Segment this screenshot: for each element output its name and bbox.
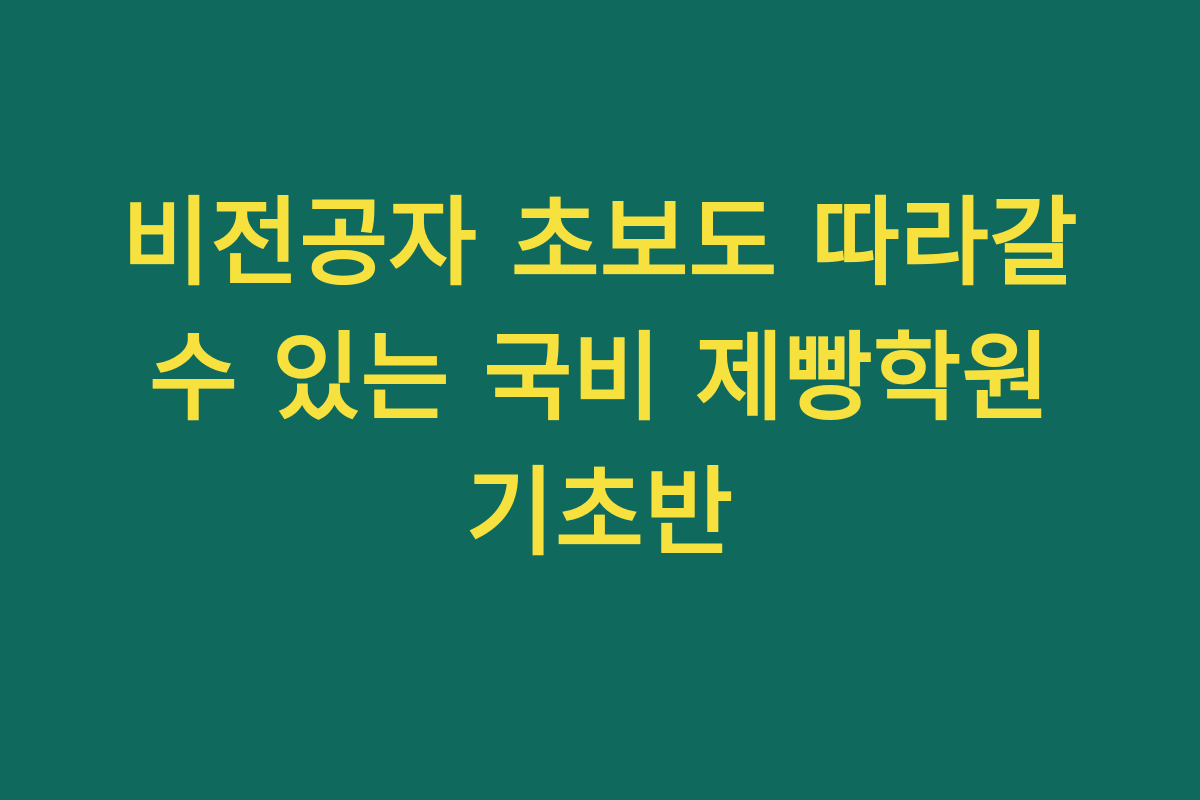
- headline-line-2: 수 있는 국비 제빵학원: [24, 311, 1176, 446]
- headline-block: 비전공자 초보도 따라갈 수 있는 국비 제빵학원 기초반: [0, 176, 1200, 581]
- headline-line-3: 기초반: [24, 446, 1176, 581]
- headline-line-1: 비전공자 초보도 따라갈: [24, 176, 1176, 311]
- banner-canvas: 비전공자 초보도 따라갈 수 있는 국비 제빵학원 기초반: [0, 0, 1200, 800]
